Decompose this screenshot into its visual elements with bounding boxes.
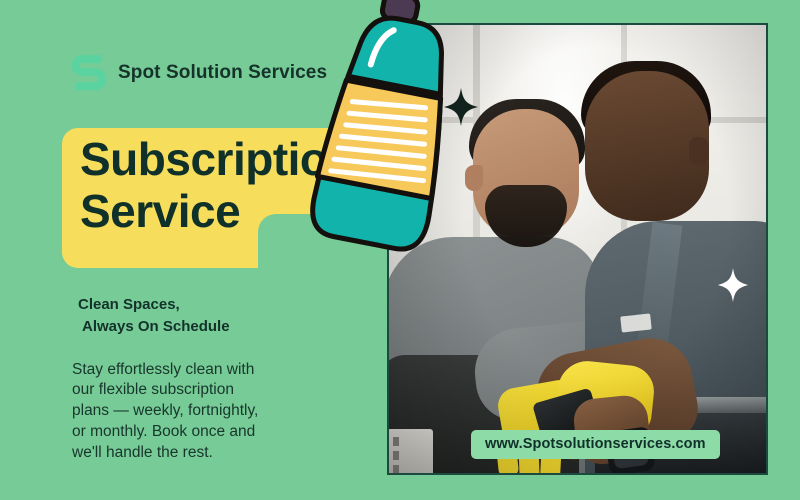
body-copy: Stay effortlessly clean with our flexibl… bbox=[72, 360, 262, 464]
headline-plate: Subscription Service bbox=[62, 128, 394, 268]
headline-line-1: Subscription bbox=[80, 133, 355, 185]
subheading: Clean Spaces, Always On Schedule bbox=[78, 294, 308, 338]
website-url-badge[interactable]: www.Spotsolutionservices.com bbox=[471, 430, 720, 459]
subheading-line-2: Always On Schedule bbox=[78, 316, 308, 338]
sparkle-light-icon bbox=[718, 268, 748, 302]
subheading-line-1: Clean Spaces, bbox=[78, 294, 308, 316]
sparkle-dark-icon bbox=[444, 88, 478, 126]
promo-poster: Spot Solution Services Subscription Serv… bbox=[0, 0, 800, 500]
headline-line-2: Service bbox=[80, 186, 400, 238]
brand-name: Spot Solution Services bbox=[118, 62, 327, 84]
brand-lockup: Spot Solution Services bbox=[72, 52, 327, 94]
letter-s-monogram-icon bbox=[72, 52, 106, 94]
page-title: Subscription Service bbox=[80, 134, 400, 237]
